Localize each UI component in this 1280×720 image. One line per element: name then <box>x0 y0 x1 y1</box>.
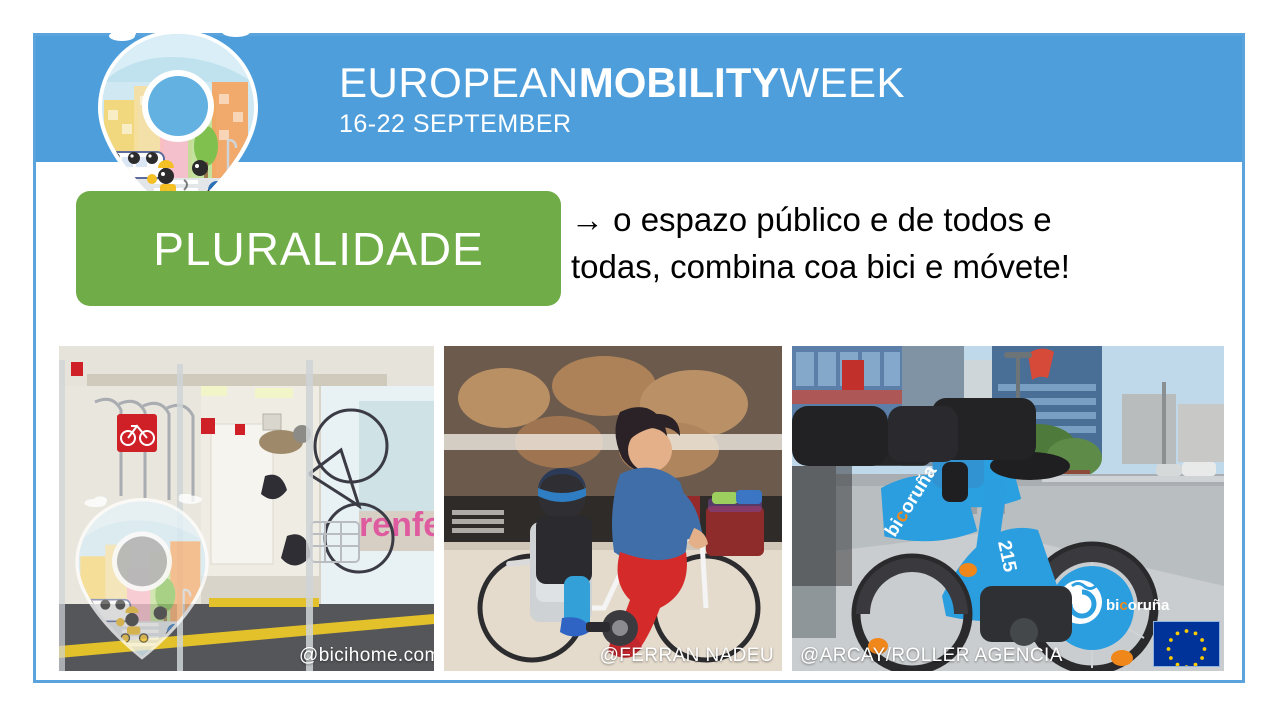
photo-caption: @bicihome.com <box>299 645 434 667</box>
brand-word-european: EUROPEAN <box>339 59 579 106</box>
photo-bicoruna-bike-share: bicoruña bicoruña <box>792 346 1224 671</box>
brand-word-week: WEEK <box>779 59 905 106</box>
slide-header: EUROPEANMOBILITYWEEK 16-22 SEPTEMBER <box>36 36 1242 162</box>
presentation-slide: EUROPEANMOBILITYWEEK 16-22 SEPTEMBER <box>33 33 1245 683</box>
photo-caption: @ARCAY/ROLLER AGENCIA <box>800 645 1063 667</box>
svg-text:bicoruña: bicoruña <box>1106 597 1170 614</box>
photo-caption: @FERRAN NADEU <box>600 645 774 667</box>
slide-blurb: → o espazo público e de todos e todas, c… <box>571 196 1216 290</box>
keyword-badge-label: PLURALIDADE <box>153 222 484 276</box>
brand-title: EUROPEANMOBILITYWEEK 16-22 SEPTEMBER <box>339 59 905 139</box>
keyword-badge: PLURALIDADE <box>76 191 561 306</box>
slide-blurb-line1: → o espazo público e de todos e <box>571 196 1216 243</box>
brand-dates: 16-22 SEPTEMBER <box>339 109 905 139</box>
brand-title-line1: EUROPEANMOBILITYWEEK <box>339 59 905 107</box>
photo-strip: renfe <box>59 346 1224 671</box>
photo-train-bike-storage: renfe <box>59 346 434 671</box>
svg-text:renfe: renfe <box>359 506 434 544</box>
brand-word-mobility: MOBILITY <box>579 59 780 106</box>
photo-woman-cycling-with-child: @FERRAN NADEU <box>444 346 782 671</box>
european-union-flag-icon <box>1153 621 1220 667</box>
slide-blurb-line2: todas, combina coa bici e móvete! <box>571 243 1216 290</box>
